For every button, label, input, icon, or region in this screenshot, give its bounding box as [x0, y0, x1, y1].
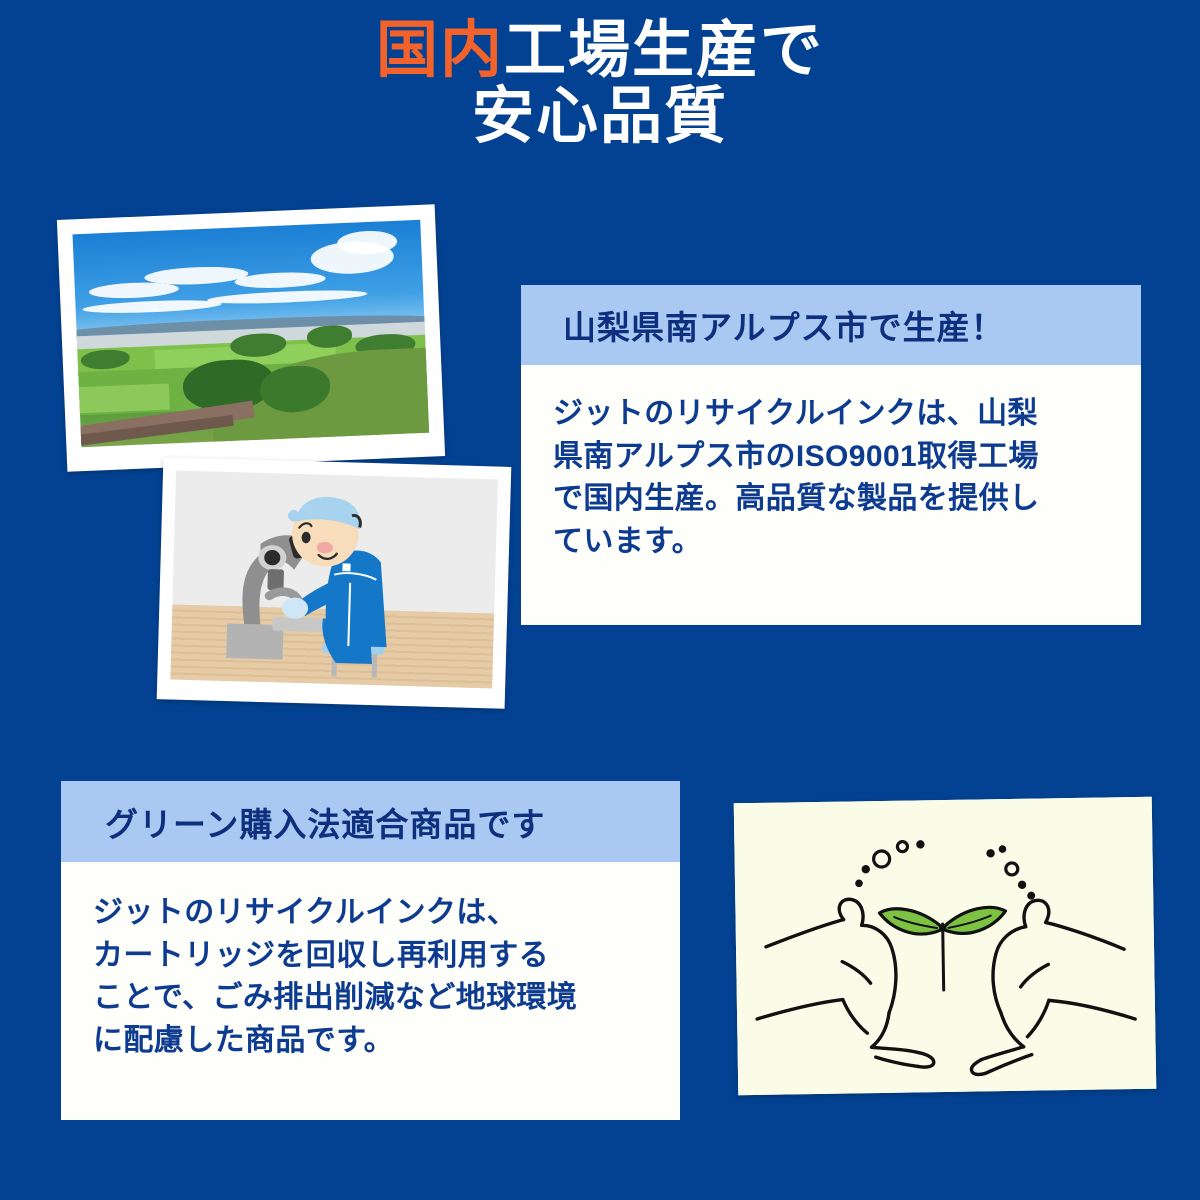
card-green-header-text: グリーン購入法適合商品です [105, 798, 545, 846]
card-yamanashi-header: 山梨県南アルプス市で生産！ [521, 285, 1141, 365]
card-yamanashi-header-text: 山梨県南アルプス市で生産！ [563, 301, 1005, 349]
microscope-inspection-illustration [157, 457, 512, 709]
page-title: 国内工場生産で 安心品質 [0, 18, 1200, 149]
card-green-header: グリーン購入法適合商品です [61, 781, 680, 862]
eco-hands-sprout-illustration [734, 797, 1157, 1096]
title-accent-text: 国内 [376, 16, 504, 85]
card-green-purchasing: グリーン購入法適合商品です ジットのリサイクルインクは、 カートリッジを回収し再… [61, 781, 680, 1120]
card-yamanashi: 山梨県南アルプス市で生産！ ジットのリサイクルインクは、山梨 県南アルプス市のI… [521, 285, 1141, 625]
title-line-1: 国内工場生産で [0, 18, 1200, 84]
card-green-body-line: ジットのリサイクルインクは、 [93, 892, 680, 935]
card-yamanashi-body-line: ています。 [553, 521, 1141, 564]
microscope-illustration-image [170, 471, 498, 689]
card-green-body-line: に配慮した商品です。 [93, 1020, 680, 1063]
card-green-body-line: ことで、ごみ排出削減など地球環境 [93, 977, 680, 1020]
card-yamanashi-body-line: ジットのリサイクルインクは、山梨 [553, 393, 1141, 436]
card-yamanashi-body-line: で国内生産。高品質な製品を提供し [553, 478, 1141, 521]
eco-illustration-image [734, 797, 1157, 1096]
card-yamanashi-body-line: 県南アルプス市のISO9001取得工場 [553, 436, 1141, 479]
landscape-photo [57, 204, 445, 472]
microscope-scene-svg [170, 471, 498, 689]
title-line-2: 安心品質 [0, 84, 1200, 150]
title-line-1-rest: 工場生産で [504, 16, 824, 85]
landscape-photo-image [73, 220, 430, 447]
eco-scene-svg [734, 797, 1157, 1096]
card-green-body-line: カートリッジを回収し再利用する [93, 935, 680, 978]
card-yamanashi-body: ジットのリサイクルインクは、山梨 県南アルプス市のISO9001取得工場 で国内… [521, 365, 1141, 563]
card-green-body: ジットのリサイクルインクは、 カートリッジを回収し再利用する ことで、ごみ排出削… [61, 862, 680, 1062]
